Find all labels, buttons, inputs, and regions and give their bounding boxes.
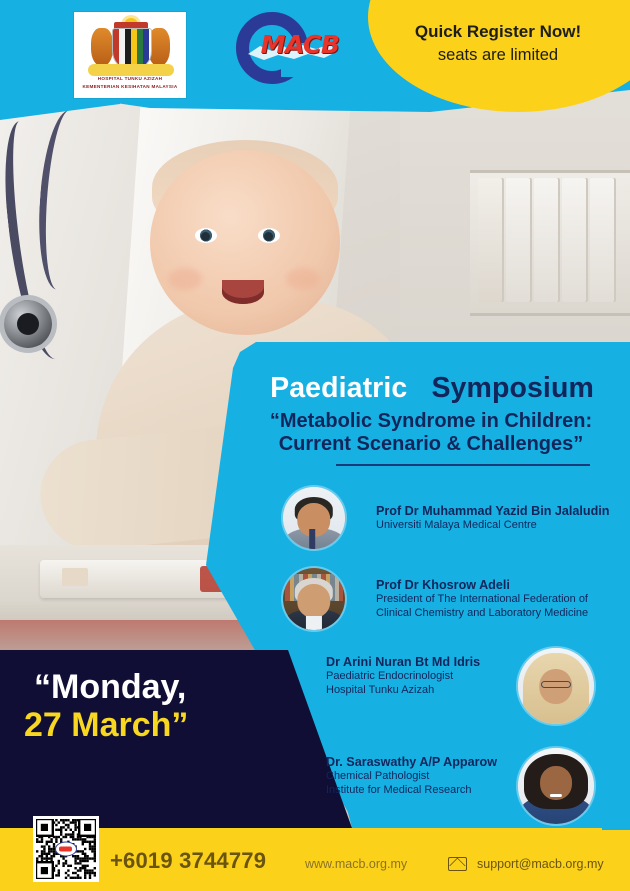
hospital-logo-line1: HOSPITAL TUNKU AZIZAH: [74, 76, 186, 81]
badge-line-1: Quick Register Now!: [378, 22, 618, 42]
speaker-photo-adeli: [283, 568, 345, 630]
photo-baby-mouth: [222, 280, 264, 304]
tiger-icon: [91, 28, 113, 66]
qr-code-registration[interactable]: [33, 816, 99, 882]
speaker-affiliation: Paediatric Endocrinologist: [326, 670, 480, 684]
date-line-2: 27 March”: [24, 706, 274, 745]
speaker-affiliation: Hospital Tunku Azizah: [326, 684, 480, 698]
photo-baby-cheek: [286, 268, 320, 290]
speaker-affiliation: Clinical Chemistry and Laboratory Medici…: [376, 607, 588, 621]
speaker-name: Dr Arini Nuran Bt Md Idris: [326, 655, 480, 670]
speaker-name: Dr. Saraswathy A/P Apparow: [326, 755, 497, 770]
speaker-photo-arini: [518, 648, 594, 724]
badge-line-2: seats are limited: [378, 46, 618, 65]
speaker-name: Prof Dr Muhammad Yazid Bin Jalaludin: [376, 504, 610, 519]
photo-baby-pupil: [201, 232, 210, 241]
title-word-symposium: Symposium: [431, 372, 593, 404]
subtitle-line-2: Current Scenario & Challenges”: [236, 433, 626, 456]
hospital-logo-line2: KEMENTERIAN KESIHATAN MALAYSIA: [74, 84, 186, 89]
photo-baby-head: [150, 150, 340, 335]
macb-logo-icon: [55, 842, 77, 857]
speaker-affiliation: President of The International Federatio…: [376, 593, 588, 607]
contact-phone[interactable]: +6019 3744779: [110, 848, 266, 874]
speaker-photo-saraswathy: [518, 748, 594, 824]
speaker-name: Prof Dr Khosrow Adeli: [376, 578, 588, 593]
photo-book: [506, 178, 532, 302]
photo-book: [590, 178, 616, 302]
photo-stethoscope-bell: [4, 300, 52, 348]
photo-book: [534, 178, 560, 302]
photo-label-tag: [62, 568, 88, 586]
photo-baby-cheek: [168, 268, 202, 290]
contact-website[interactable]: www.macb.org.my: [305, 857, 407, 871]
poster-canvas: “Monday, 27 March” HOSPITAL TUNKU AZIZAH…: [0, 0, 630, 891]
speaker-affiliation: Institute for Medical Research: [326, 784, 497, 798]
title-divider: [336, 464, 590, 466]
subtitle-line-1: “Metabolic Syndrome in Children:: [236, 410, 626, 433]
macb-logo: MACB: [228, 10, 346, 86]
speaker-photo-yazid: [283, 487, 345, 549]
photo-book: [478, 178, 504, 302]
macb-logo-text: MACB: [250, 30, 350, 59]
glasses-icon: [541, 681, 571, 688]
hospital-logo: HOSPITAL TUNKU AZIZAH KEMENTERIAN KESIHA…: [74, 12, 186, 98]
photo-book: [562, 178, 588, 302]
malaysia-coat-of-arms-icon: [74, 14, 186, 72]
contact-email[interactable]: support@macb.org.my: [477, 857, 604, 871]
speaker-affiliation: Chemical Pathologist: [326, 770, 497, 784]
speaker-affiliation: Universiti Malaya Medical Centre: [376, 519, 610, 533]
smile: [550, 794, 562, 798]
motto-ribbon: [88, 64, 174, 76]
title-word-paediatric: Paediatric: [270, 372, 407, 404]
page-subtitle: “Metabolic Syndrome in Children: Current…: [236, 410, 626, 456]
qr-code-pattern: [36, 819, 96, 879]
photo-baby-pupil: [264, 232, 273, 241]
date-line-1: “Monday,: [34, 668, 284, 707]
page-title: Paediatric Symposium: [252, 372, 612, 405]
envelope-icon: [448, 857, 467, 871]
footer-cyan-edge: [602, 826, 630, 830]
